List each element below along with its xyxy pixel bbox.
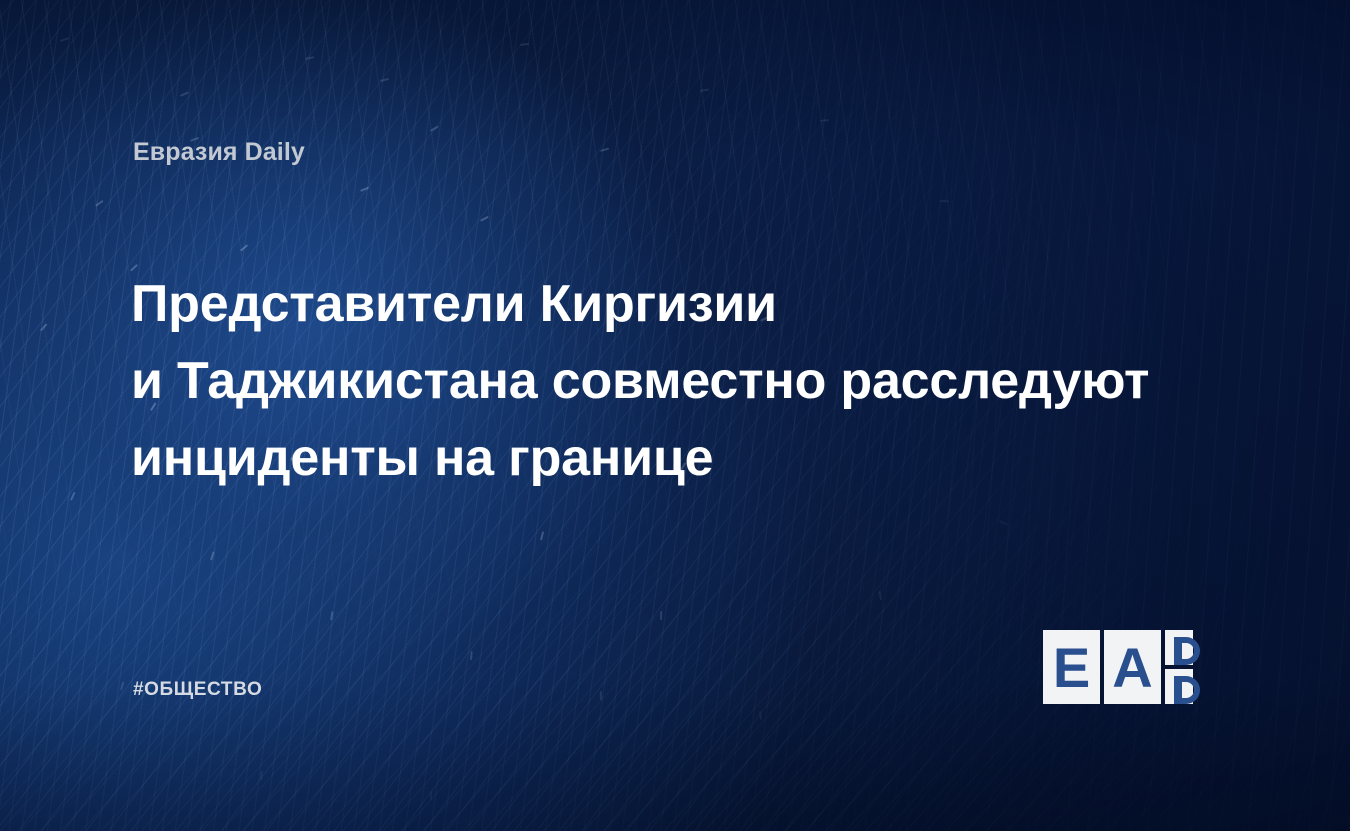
logo-tile-e: Е — [1043, 630, 1100, 704]
headline-line-1: Представители Киргизии — [131, 266, 1241, 343]
card-content: Евразия Daily Представители Киргизии и Т… — [0, 0, 1350, 831]
headline: Представители Киргизии и Таджикистана со… — [131, 266, 1241, 497]
news-card: Евразия Daily Представители Киргизии и Т… — [0, 0, 1350, 831]
logo-tile-d — [1165, 630, 1200, 704]
logo-letter-a: А — [1112, 636, 1152, 699]
eadaily-logo[interactable]: Е А — [1043, 630, 1223, 704]
category-tag[interactable]: #ОБЩЕСТВО — [133, 679, 262, 701]
brand-name: Евразия Daily — [133, 138, 305, 167]
logo-letter-e: Е — [1053, 636, 1090, 699]
logo-tile-a: А — [1104, 630, 1161, 704]
headline-line-2: и Таджикистана совместно расследуют — [131, 343, 1241, 420]
headline-line-3: инциденты на границе — [131, 420, 1241, 497]
